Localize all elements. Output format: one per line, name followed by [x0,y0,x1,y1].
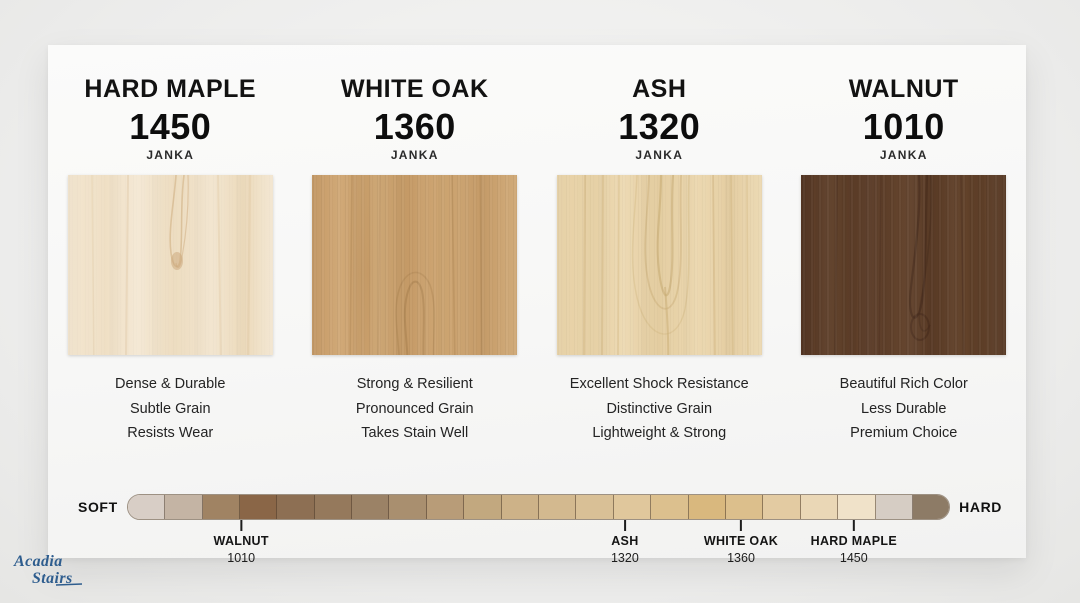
janka-unit-label: JANKA [391,148,439,162]
scale-marker-name: ASH [611,534,639,550]
trait-line: Strong & Resilient [356,372,474,396]
species-column-hard-maple: HARD MAPLE 1450 JANKA Dense & Durable [48,45,293,445]
trait-line: Resists Wear [115,421,225,445]
scale-marker-value: 1320 [611,550,639,566]
scale-marker: ASH1320 [611,520,639,566]
logo-underline [56,584,82,585]
trait-line: Beautiful Rich Color [840,372,968,396]
scale-tick [740,520,742,531]
species-traits: Strong & Resilient Pronounced Grain Take… [356,372,474,445]
species-name: WHITE OAK [341,77,489,102]
wood-swatch-ash [557,175,762,355]
scale-tick [624,520,626,531]
species-column-walnut: WALNUT 1010 JANKA [782,45,1027,445]
trait-line: Lightweight & Strong [570,421,749,445]
species-traits: Dense & Durable Subtle Grain Resists Wea… [115,372,225,445]
species-traits: Beautiful Rich Color Less Durable Premiu… [840,372,968,445]
scale-marker-value: 1360 [704,550,778,566]
species-traits: Excellent Shock Resistance Distinctive G… [570,372,749,445]
scale-tick [853,520,855,531]
wood-swatch-walnut [801,175,1006,355]
wood-swatch-white-oak [312,175,517,355]
scale-marker-name: WHITE OAK [704,534,778,550]
scale-marker: HARD MAPLE1450 [811,520,897,566]
scale-tick [240,520,242,531]
janka-value: 1450 [129,107,211,147]
trait-line: Distinctive Grain [570,397,749,421]
janka-value: 1320 [618,107,700,147]
wood-swatch-hard-maple [68,175,273,355]
janka-unit-label: JANKA [146,148,194,162]
scale-marker-value: 1010 [214,550,269,566]
infographic-card: HARD MAPLE 1450 JANKA Dense & Durable [48,45,1026,558]
species-column-white-oak: WHITE OAK 1360 JANKA Strong & Resilie [293,45,538,445]
species-column-ash: ASH 1320 JANKA [537,45,782,445]
trait-line: Pronounced Grain [356,397,474,421]
species-columns: HARD MAPLE 1450 JANKA Dense & Durable [48,45,1026,445]
scale-marker: WALNUT1010 [214,520,269,566]
acadia-stairs-logo: Acadia Stairs [10,547,118,591]
hardness-scale: SOFT HARD WALNUT1010ASH1320WHITE OAK1360… [48,465,1026,558]
species-name: HARD MAPLE [84,77,256,102]
janka-unit-label: JANKA [635,148,683,162]
janka-value: 1360 [374,107,456,147]
scale-marker-name: HARD MAPLE [811,534,897,550]
scale-markers: WALNUT1010ASH1320WHITE OAK1360HARD MAPLE… [48,465,1026,558]
trait-line: Excellent Shock Resistance [570,372,749,396]
trait-line: Premium Choice [840,421,968,445]
scale-marker-name: WALNUT [214,534,269,550]
janka-value: 1010 [863,107,945,147]
trait-line: Dense & Durable [115,372,225,396]
species-name: WALNUT [849,77,959,102]
logo-line-1: Acadia [13,553,63,570]
scale-marker: WHITE OAK1360 [704,520,778,566]
trait-line: Subtle Grain [115,397,225,421]
trait-line: Takes Stain Well [356,421,474,445]
janka-unit-label: JANKA [880,148,928,162]
trait-line: Less Durable [840,397,968,421]
species-name: ASH [632,77,686,102]
scale-marker-value: 1450 [811,550,897,566]
